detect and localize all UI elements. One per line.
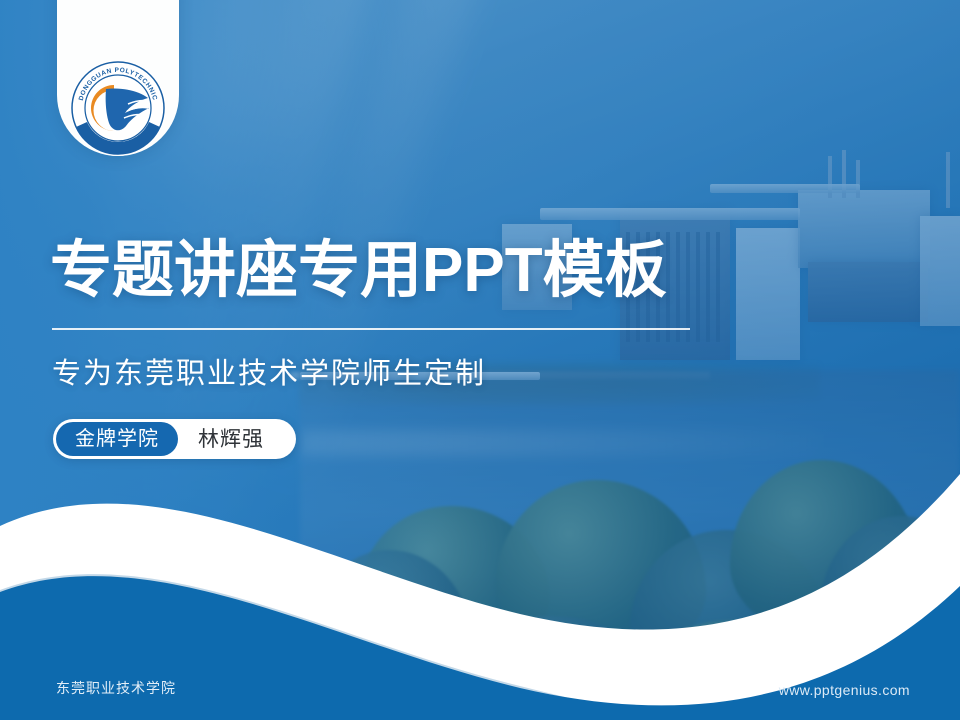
page-title: 专题讲座专用PPT模板 bbox=[50, 238, 667, 303]
footer-institution: 东莞职业技术学院 bbox=[56, 678, 176, 698]
presenter-name: 林辉强 bbox=[178, 429, 274, 450]
footer-website[interactable]: www.pptgenius.com bbox=[779, 682, 910, 698]
title-divider-rule bbox=[52, 328, 690, 330]
badge-tag-label: 金牌学院 bbox=[75, 429, 159, 449]
dongguan-polytechnic-logo: DONGGUAN POLYTECHNIC 东莞职业技术学院 bbox=[68, 58, 168, 158]
badge-tag: 金牌学院 bbox=[56, 422, 178, 456]
presenter-badge: 金牌学院 林辉强 bbox=[53, 419, 296, 459]
page-subtitle: 专为东莞职业技术学院师生定制 bbox=[52, 350, 486, 392]
ppt-cover-slide: DONGGUAN POLYTECHNIC 东莞职业技术学院 专题讲座专用PPT模… bbox=[0, 0, 960, 720]
